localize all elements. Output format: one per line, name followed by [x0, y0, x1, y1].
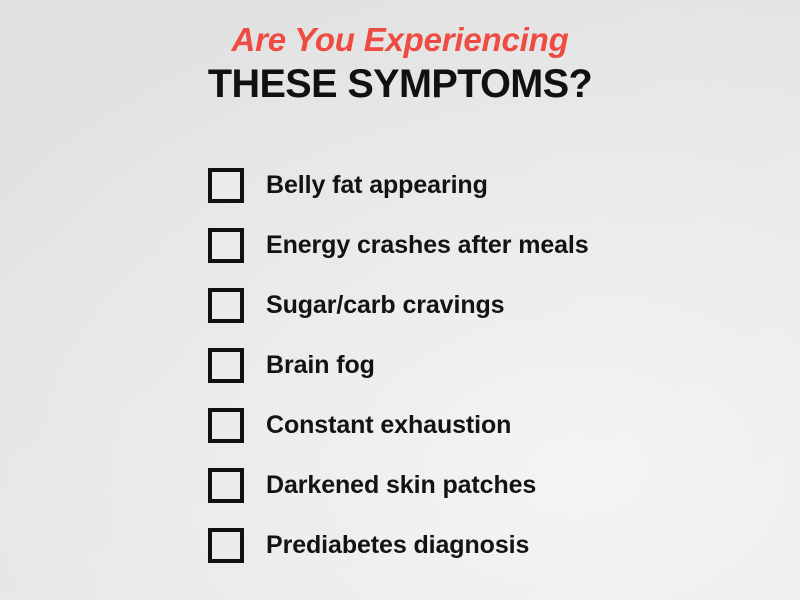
checkbox-icon[interactable] — [208, 408, 244, 443]
checklist-item[interactable]: Darkened skin patches — [208, 455, 768, 515]
checkbox-icon[interactable] — [208, 528, 244, 563]
checkbox-icon[interactable] — [208, 468, 244, 503]
heading-block: Are You Experiencing THESE SYMPTOMS? — [0, 20, 800, 107]
checklist-item-label: Belly fat appearing — [266, 171, 488, 199]
checklist-item-label: Darkened skin patches — [266, 471, 536, 499]
checklist-item[interactable]: Constant exhaustion — [208, 395, 768, 455]
checklist-item[interactable]: Sugar/carb cravings — [208, 275, 768, 335]
checklist-item[interactable]: Belly fat appearing — [208, 155, 768, 215]
slide-canvas: Are You Experiencing THESE SYMPTOMS? Bel… — [0, 0, 800, 600]
checkbox-icon[interactable] — [208, 348, 244, 383]
checklist-item[interactable]: Prediabetes diagnosis — [208, 515, 768, 575]
checkbox-icon[interactable] — [208, 288, 244, 323]
symptom-checklist: Belly fat appearingEnergy crashes after … — [208, 155, 768, 575]
page-title: THESE SYMPTOMS? — [4, 61, 796, 107]
checkbox-icon[interactable] — [208, 228, 244, 263]
checklist-item-label: Energy crashes after meals — [266, 231, 589, 259]
checklist-item-label: Sugar/carb cravings — [266, 291, 504, 319]
checkbox-icon[interactable] — [208, 168, 244, 203]
checklist-item[interactable]: Energy crashes after meals — [208, 215, 768, 275]
checklist-item-label: Brain fog — [266, 351, 375, 379]
checklist-item[interactable]: Brain fog — [208, 335, 768, 395]
checklist-item-label: Constant exhaustion — [260, 411, 511, 439]
headline-accent: Are You Experiencing — [0, 20, 800, 60]
checklist-item-label: Prediabetes diagnosis — [266, 531, 529, 559]
